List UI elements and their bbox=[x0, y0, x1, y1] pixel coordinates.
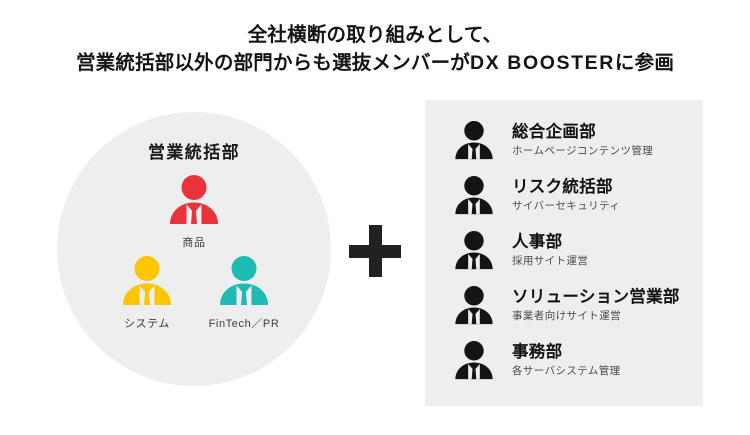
person-tie-icon bbox=[97, 255, 197, 312]
department-subtitle: ホームページコンテンツ管理 bbox=[512, 145, 653, 159]
department-name: 総合企画部 bbox=[512, 123, 653, 143]
department-subtitle: サイバーセキュリティ bbox=[512, 200, 620, 214]
person-tie-icon bbox=[452, 230, 496, 271]
member-caption: システム bbox=[97, 315, 197, 331]
department-texts: 事務部 各サーバシステム管理 bbox=[512, 343, 621, 378]
person-tie-icon bbox=[452, 285, 496, 326]
department-texts: 総合企画部 ホームページコンテンツ管理 bbox=[512, 123, 653, 158]
person-tie-icon bbox=[190, 255, 298, 312]
circle-title: 営業統括部 bbox=[57, 138, 331, 163]
department-texts: リスク統括部 サイバーセキュリティ bbox=[512, 178, 620, 213]
department-name: ソリューション営業部 bbox=[512, 288, 680, 308]
member-shohin: 商品 bbox=[144, 174, 244, 250]
member-fintech-pr: FinTech／PR bbox=[190, 255, 298, 331]
member-system: システム bbox=[97, 255, 197, 331]
department-subtitle: 採用サイト運営 bbox=[512, 255, 588, 269]
department-name: 人事部 bbox=[512, 233, 588, 253]
department-texts: ソリューション営業部 事業者向けサイト運営 bbox=[512, 288, 680, 323]
sales-division-circle: 営業統括部 商品 システム bbox=[57, 112, 331, 386]
department-name: 事務部 bbox=[512, 343, 621, 363]
department-row: リスク統括部 サイバーセキュリティ bbox=[425, 168, 703, 223]
headline-line-2-prefix: 営業統括部以外の部門からも選抜メンバーが bbox=[76, 52, 470, 74]
person-tie-icon bbox=[452, 175, 496, 216]
person-tie-icon bbox=[452, 120, 496, 161]
person-tie-icon bbox=[452, 340, 496, 381]
department-subtitle: 事業者向けサイト運営 bbox=[512, 310, 680, 324]
department-name: リスク統括部 bbox=[512, 178, 620, 198]
department-row: ソリューション営業部 事業者向けサイト運営 bbox=[425, 278, 703, 333]
page-title: 全社横断の取り組みとして、 営業統括部以外の部門からも選抜メンバーがDX BOO… bbox=[0, 22, 750, 77]
department-list-panel: 総合企画部 ホームページコンテンツ管理 リスク統括部 サイバーセキュリティ bbox=[425, 100, 703, 406]
department-subtitle: 各サーバシステム管理 bbox=[512, 365, 621, 379]
department-row: 事務部 各サーバシステム管理 bbox=[425, 333, 703, 388]
department-row: 人事部 採用サイト運営 bbox=[425, 223, 703, 278]
person-tie-icon bbox=[144, 174, 244, 231]
department-texts: 人事部 採用サイト運営 bbox=[512, 233, 588, 268]
headline-line-2: 営業統括部以外の部門からも選抜メンバーがDX BOOSTERに参画 bbox=[0, 50, 750, 78]
plus-icon bbox=[349, 225, 401, 277]
headline-line-2-suffix: に参画 bbox=[615, 52, 674, 74]
headline-brand-name: DX BOOSTER bbox=[470, 52, 615, 74]
department-row: 総合企画部 ホームページコンテンツ管理 bbox=[425, 113, 703, 168]
headline-line-1: 全社横断の取り組みとして、 bbox=[0, 22, 750, 50]
member-caption: FinTech／PR bbox=[190, 315, 298, 331]
member-caption: 商品 bbox=[144, 234, 244, 250]
plus-vertical-bar bbox=[369, 225, 382, 277]
